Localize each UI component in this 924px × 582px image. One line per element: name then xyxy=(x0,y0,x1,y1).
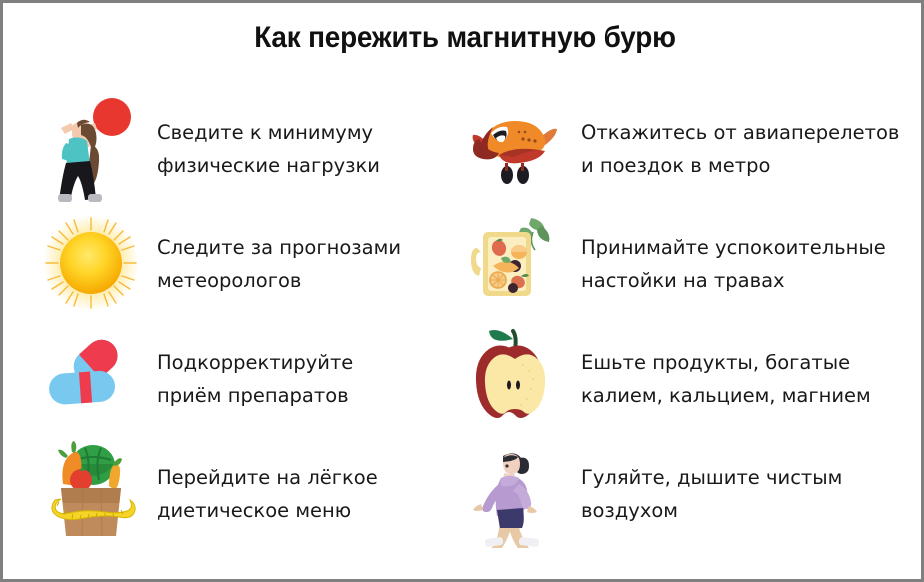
tip-text: Ешьте продукты, богатые калием, кальцием… xyxy=(567,346,871,412)
woman-exercise-ball-icon xyxy=(39,95,143,203)
tip-item: Ешьте продукты, богатые калием, кальцием… xyxy=(463,321,924,436)
grocery-bag-measuring-tape-icon xyxy=(39,440,143,548)
tip-item: Сведите к минимуму физические нагрузки xyxy=(39,91,443,206)
tip-item: Гуляйте, дышите чистым воздухом xyxy=(463,436,924,551)
tip-item: Принимайте успокоительные настойки на тр… xyxy=(463,206,924,321)
tip-item: Подкорректируйте приём препаратов xyxy=(39,321,443,436)
tip-text: Сведите к минимуму физические нагрузки xyxy=(143,116,380,182)
tips-columns: Сведите к минимуму физические нагрузки xyxy=(3,91,924,551)
pills-capsules-icon xyxy=(39,325,143,433)
tip-item: Перейдите на лёгкое диетическое меню xyxy=(39,436,443,551)
tip-text: Подкорректируйте приём препаратов xyxy=(143,346,353,412)
tip-text: Перейдите на лёгкое диетическое меню xyxy=(143,461,378,527)
tip-item: Следите за прогнозами метеорологов xyxy=(39,206,443,321)
sun-icon xyxy=(39,210,143,318)
page-title: Как пережить магнитную бурю xyxy=(35,21,894,55)
tip-item: Откажитесь от авиаперелетов и поездок в … xyxy=(463,91,924,206)
walking-woman-icon xyxy=(463,440,567,548)
airplane-icon xyxy=(463,95,567,203)
tips-column-right: Откажитесь от авиаперелетов и поездок в … xyxy=(443,91,924,551)
herbal-tea-mug-icon xyxy=(463,210,567,318)
apple-halved-icon xyxy=(463,325,567,433)
tip-text: Гуляйте, дышите чистым воздухом xyxy=(567,461,842,527)
tip-text: Откажитесь от авиаперелетов и поездок в … xyxy=(567,116,899,182)
tip-text: Следите за прогнозами метеорологов xyxy=(143,231,401,297)
tip-text: Принимайте успокоительные настойки на тр… xyxy=(567,231,886,297)
tips-column-left: Сведите к минимуму физические нагрузки xyxy=(3,91,443,551)
infographic-page: Как пережить магнитную бурю xyxy=(0,0,924,582)
